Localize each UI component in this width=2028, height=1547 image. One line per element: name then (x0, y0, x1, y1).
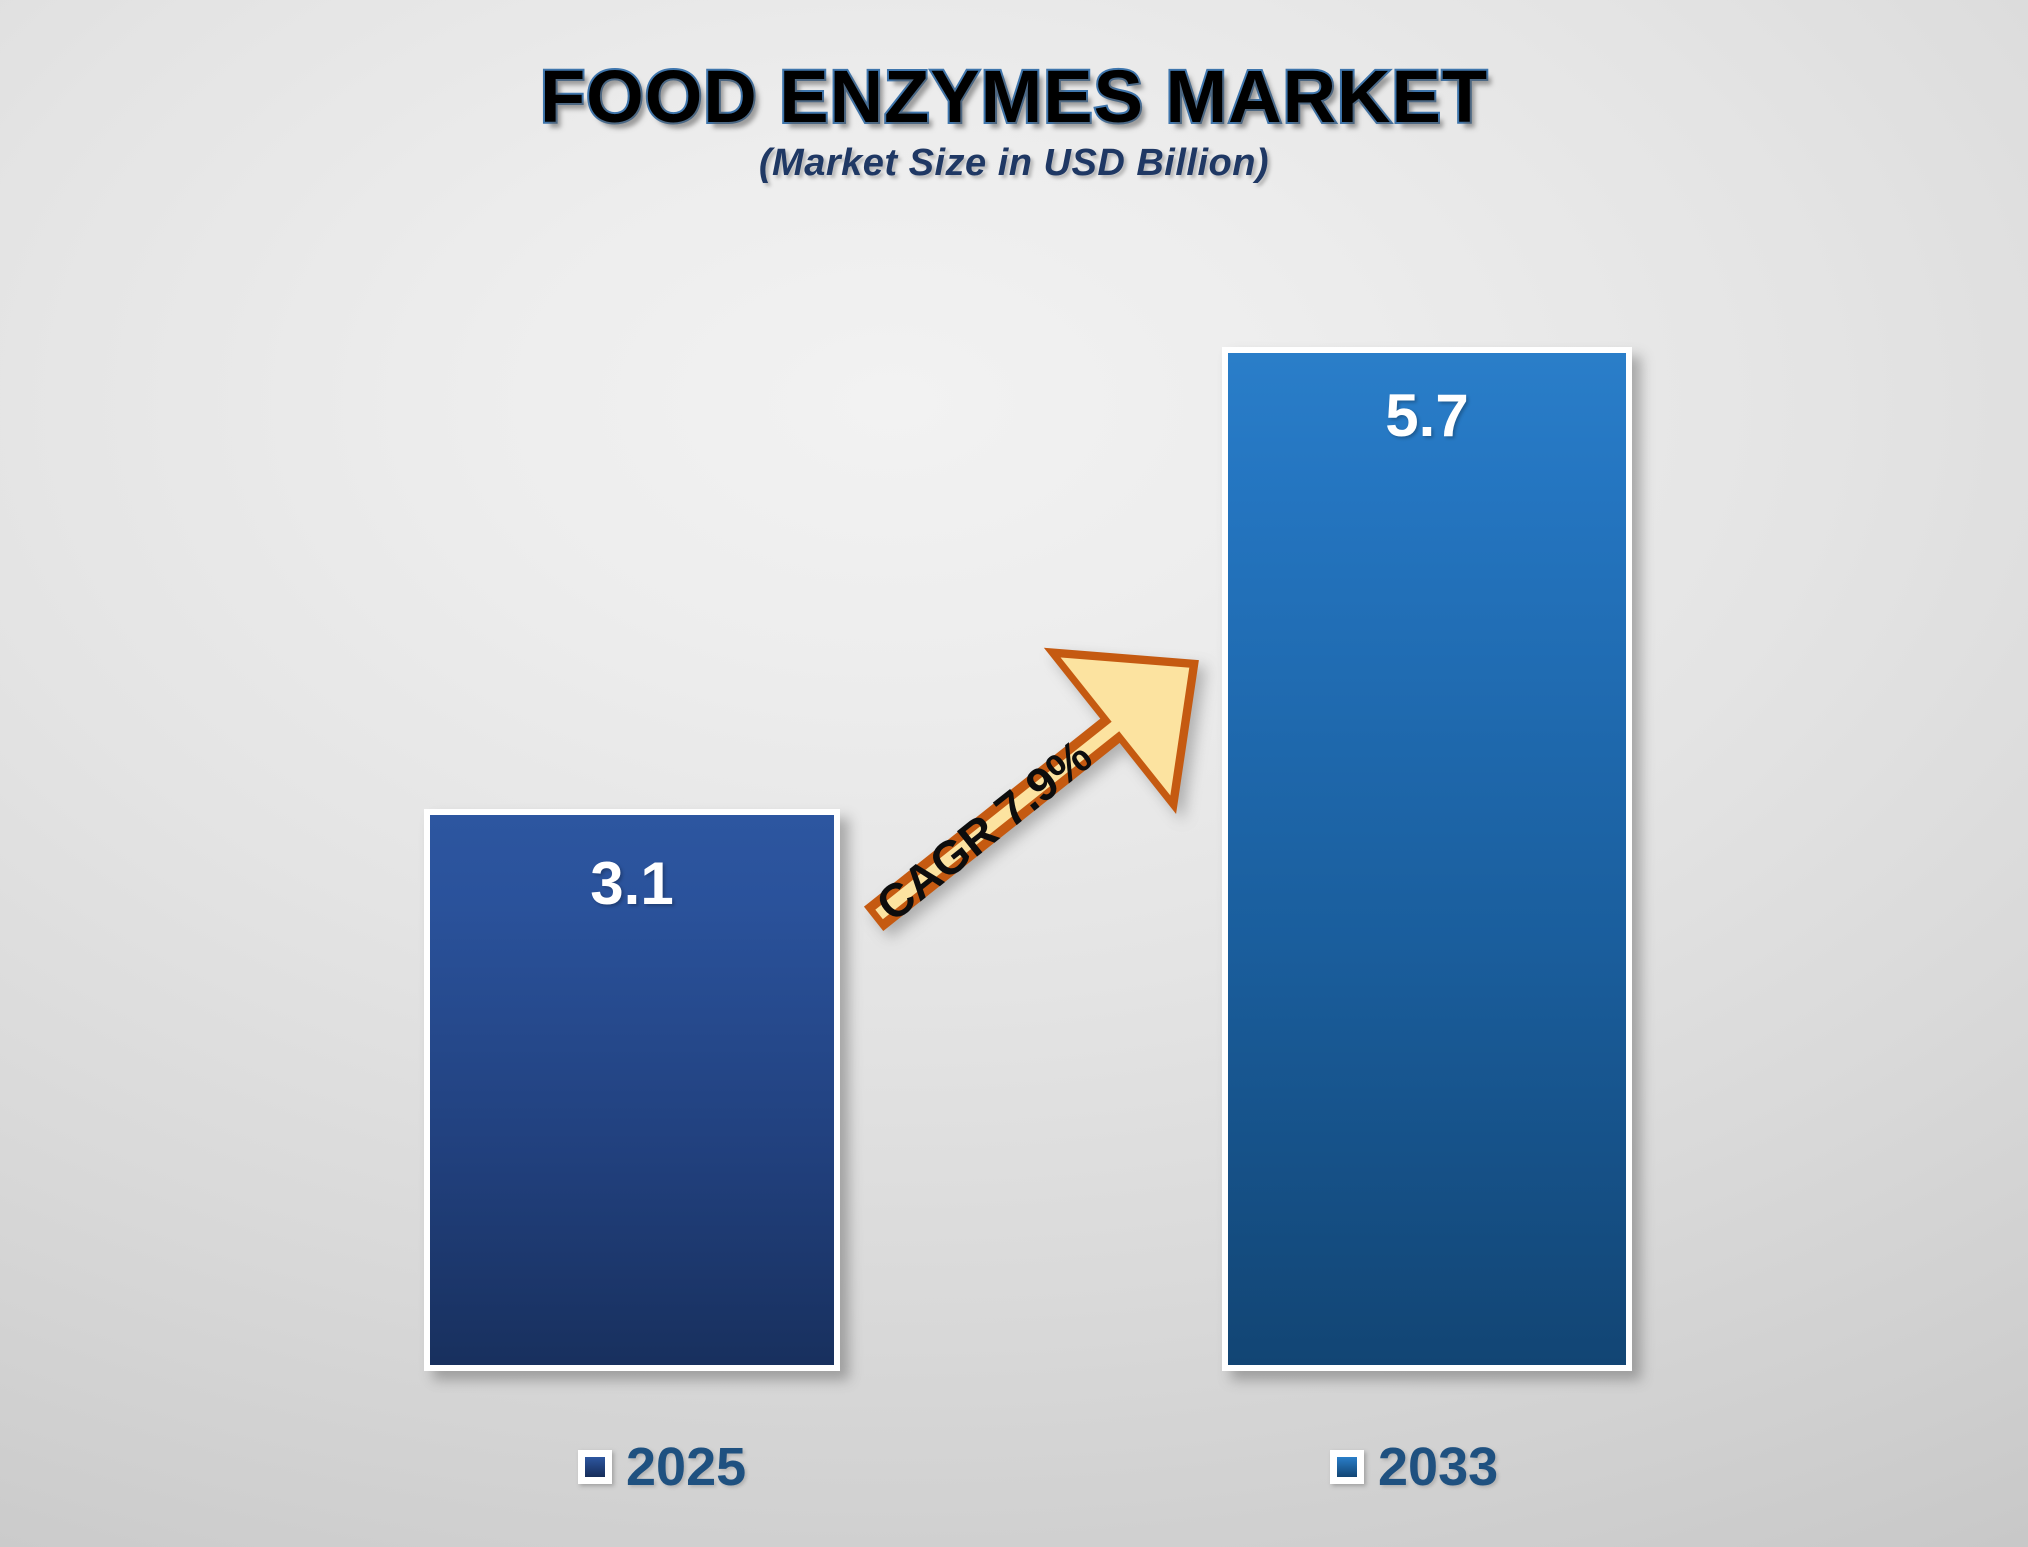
bar-2025[interactable]: 3.1 (424, 809, 840, 1371)
bar-value-2025: 3.1 (430, 849, 834, 918)
cagr-growth-arrow-icon: CAGR 7.9% (820, 600, 1250, 980)
bar-2033[interactable]: 5.7 (1222, 347, 1632, 1371)
plot-area: 3.1 5.7 CAGR 7.9% (0, 0, 2028, 1547)
legend-swatch-2025-icon (578, 1450, 612, 1484)
bar-value-2033: 5.7 (1228, 381, 1626, 450)
legend-label-2025: 2025 (626, 1440, 746, 1494)
cagr-label: CAGR 7.9% (866, 729, 1101, 931)
legend-item-2025[interactable]: 2025 (578, 1440, 746, 1494)
legend-item-2033[interactable]: 2033 (1330, 1440, 1498, 1494)
legend-swatch-2033-icon (1330, 1450, 1364, 1484)
legend-label-2033: 2033 (1378, 1440, 1498, 1494)
chart-canvas: FOOD ENZYMES MARKET (Market Size in USD … (0, 0, 2028, 1547)
